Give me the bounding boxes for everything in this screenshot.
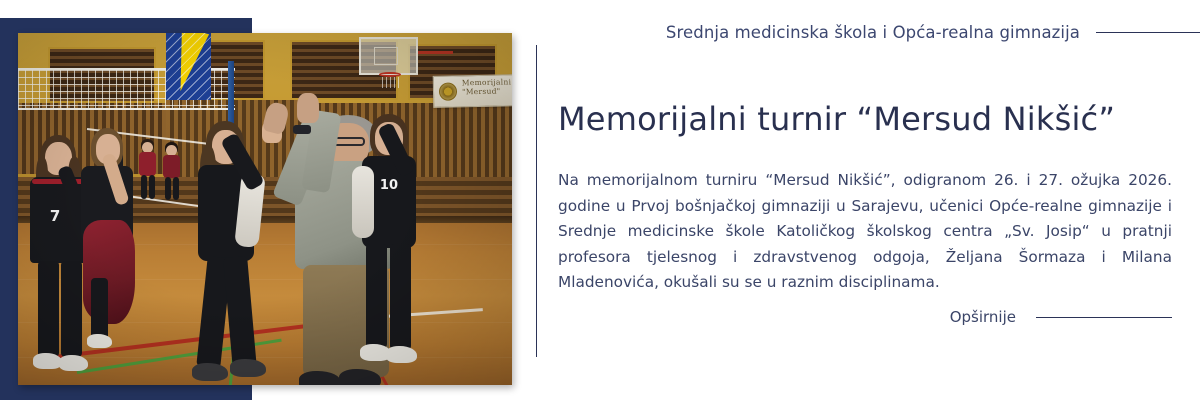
basketball-net — [382, 77, 402, 88]
basketball-hoop — [379, 72, 401, 77]
banner-seal-icon — [439, 82, 457, 100]
backboard-square — [374, 47, 399, 65]
jersey-number-label: 10 — [380, 178, 398, 193]
leg-left — [91, 278, 108, 340]
article-body: Na memorijalnom turniru “Mersud Nikšić”,… — [558, 168, 1172, 296]
leg-right — [390, 244, 411, 350]
shoe-right — [386, 346, 417, 363]
article-photo[interactable]: Memorijalni "Mersud" — [18, 33, 512, 385]
banner-line-2: "Mersud" — [462, 87, 512, 97]
shoe-left — [33, 353, 62, 369]
tournament-banner: Memorijalni "Mersud" — [433, 74, 512, 108]
article-media: Memorijalni "Mersud" — [0, 0, 520, 420]
flag-stars — [166, 33, 210, 100]
hoop-support-arm — [418, 51, 453, 54]
category-label[interactable]: Srednja medicinska škola i Opća-realna g… — [666, 23, 1080, 42]
torso — [163, 155, 180, 178]
article-teaser-card: Memorijalni "Mersud" — [0, 0, 1200, 420]
read-more-label[interactable]: Opširnije — [950, 308, 1016, 326]
leg-left — [366, 244, 387, 348]
photo-scene: Memorijalni "Mersud" — [18, 33, 512, 385]
category-eyebrow-row: Srednja medicinska škola i Opća-realna g… — [560, 19, 1200, 45]
jersey-number-label: 7 — [50, 207, 60, 225]
read-more-row[interactable]: Opširnije — [560, 305, 1172, 329]
player-second-left — [77, 128, 143, 343]
banner-text: Memorijalni "Mersud" — [462, 78, 512, 97]
player-number-10: 10 — [354, 114, 436, 374]
leg-left — [165, 177, 171, 200]
leg-right — [223, 256, 257, 370]
bosnia-flag — [166, 33, 210, 100]
shoe-left — [192, 363, 228, 381]
shoe-right — [59, 355, 88, 371]
eyebrow-rule — [1096, 32, 1200, 33]
shoe-left — [87, 334, 112, 348]
shoe-right — [230, 359, 266, 377]
sleeve-white — [352, 166, 374, 238]
read-more-rule — [1036, 317, 1172, 318]
background-person-2 — [161, 142, 183, 200]
leg-right — [173, 177, 179, 200]
page-title[interactable]: Memorijalni turnir “Mersud Nikšić” — [558, 100, 1115, 138]
wristwatch-icon — [293, 125, 311, 134]
content-divider — [536, 45, 537, 357]
hand-left — [262, 101, 291, 135]
leg-right — [149, 175, 155, 199]
hand-right — [297, 93, 319, 123]
leg-left — [38, 261, 59, 357]
